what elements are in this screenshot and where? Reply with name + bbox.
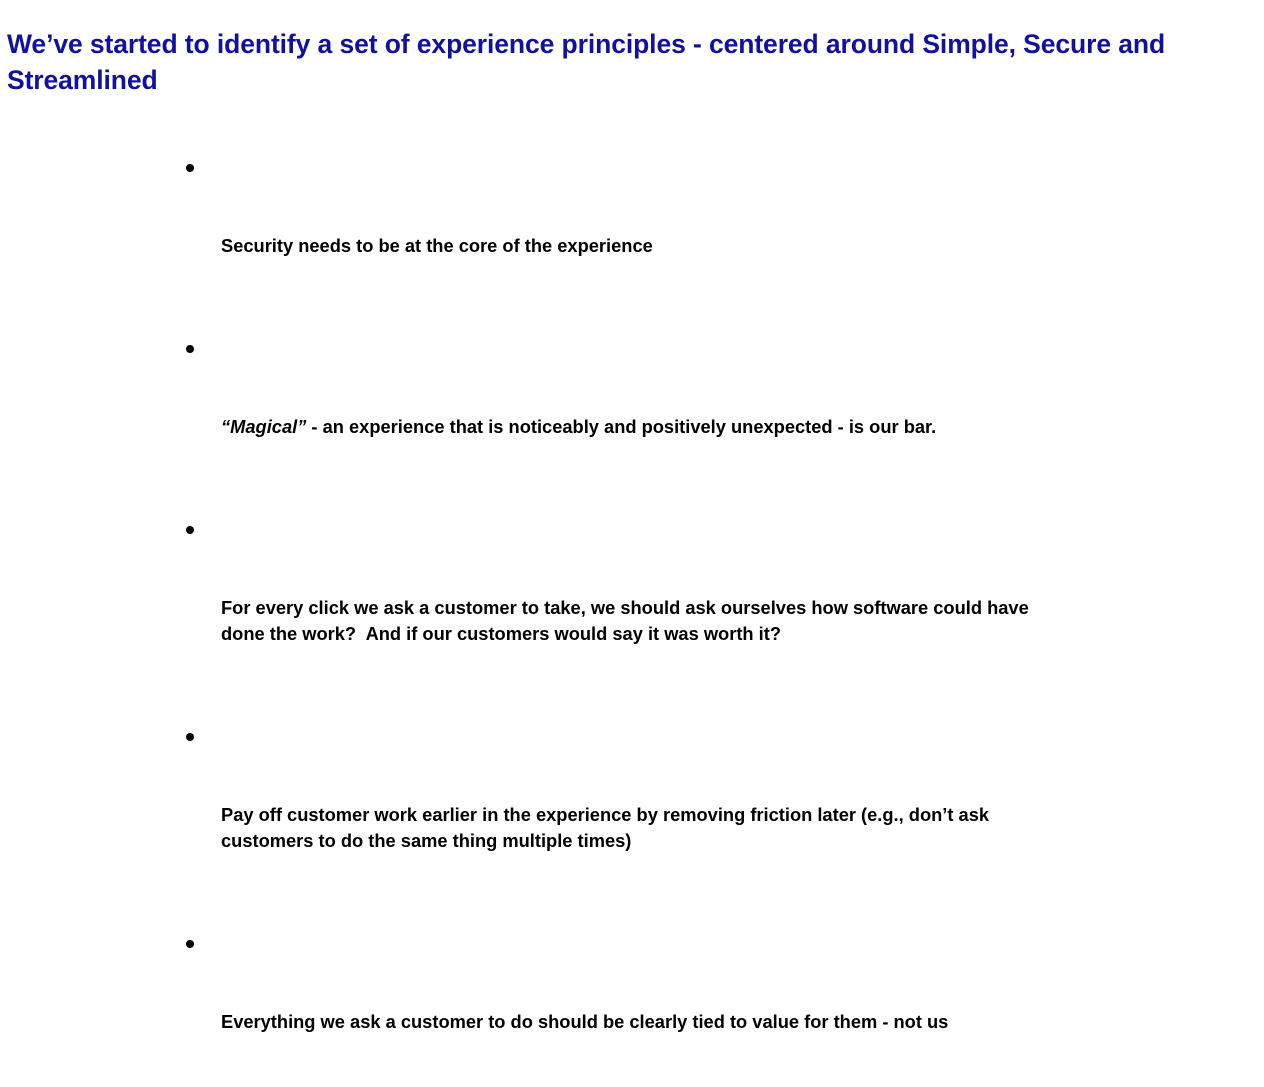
list-item-text: Pay off customer work earlier in the exp… (221, 802, 1046, 854)
filled-disc-bullet-icon (186, 940, 194, 948)
list-item: Pay off customer work earlier in the exp… (186, 724, 1046, 906)
filled-disc-bullet-icon (186, 733, 194, 741)
list-item: For every click we ask a customer to tak… (186, 517, 1046, 699)
list-item-text: “Magical” - an experience that is notice… (221, 414, 1046, 440)
list-item-text: Everything we ask a customer to do shoul… (221, 1009, 1046, 1035)
slide-title: We’ve started to identify a set of exper… (7, 26, 1247, 98)
filled-disc-bullet-icon (186, 164, 194, 172)
list-item-emphasis: “Magical” (221, 416, 306, 437)
list-item: Security needs to be at the core of the … (186, 155, 1046, 311)
list-item-text: For every click we ask a customer to tak… (221, 595, 1046, 647)
list-item-text-remainder: - an experience that is noticeably and p… (306, 416, 936, 437)
experience-principles-list: Security needs to be at the core of the … (186, 155, 1046, 1087)
list-item: “Magical” - an experience that is notice… (186, 336, 1046, 492)
slide-canvas: We’ve started to identify a set of exper… (0, 0, 1264, 630)
filled-disc-bullet-icon (186, 345, 194, 353)
list-item-text: Security needs to be at the core of the … (221, 233, 1046, 259)
filled-disc-bullet-icon (186, 526, 194, 534)
list-item: Everything we ask a customer to do shoul… (186, 931, 1046, 1087)
